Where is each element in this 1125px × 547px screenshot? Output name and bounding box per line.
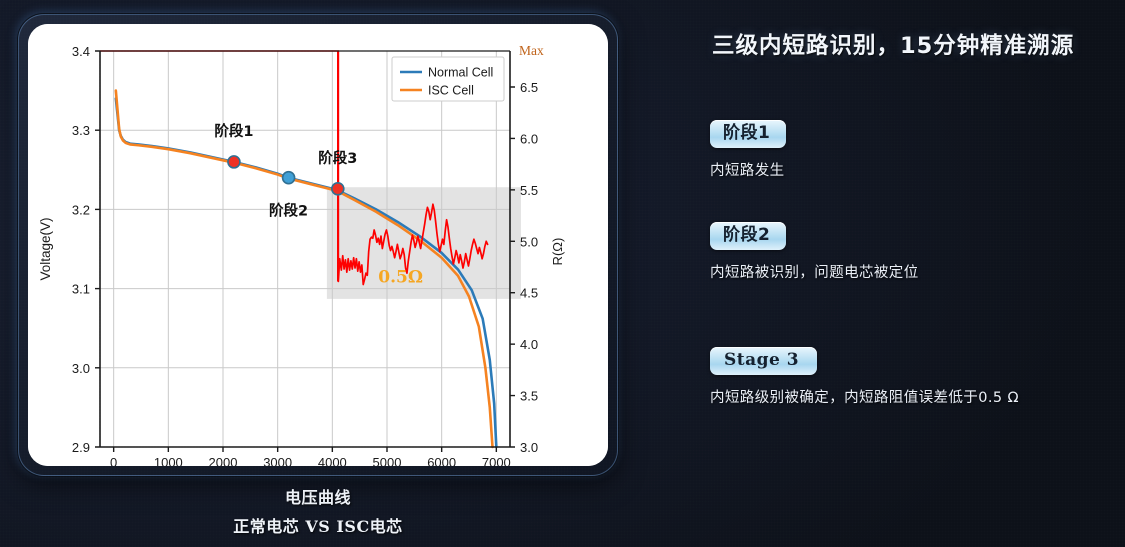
chart-card-frame: 01000200030004000500060007000Time(s)2.93… <box>18 14 618 476</box>
voltage-chart: 01000200030004000500060007000Time(s)2.93… <box>28 24 608 466</box>
svg-text:3.0: 3.0 <box>72 361 90 376</box>
max-axis-label: Max <box>519 43 544 58</box>
stage-marker-阶段1 <box>228 156 240 168</box>
svg-text:3000: 3000 <box>263 455 292 466</box>
svg-text:1000: 1000 <box>154 455 183 466</box>
svg-text:3.1: 3.1 <box>72 282 90 297</box>
svg-text:7000: 7000 <box>482 455 511 466</box>
svg-text:3.0: 3.0 <box>520 440 538 455</box>
svg-text:5.5: 5.5 <box>520 183 538 198</box>
svg-text:6.5: 6.5 <box>520 80 538 95</box>
svg-text:R(Ω): R(Ω) <box>550 238 565 266</box>
chart-legend: Normal CellISC Cell <box>392 57 504 101</box>
svg-text:4000: 4000 <box>318 455 347 466</box>
stage-marker-阶段3 <box>332 183 344 195</box>
svg-text:3.4: 3.4 <box>72 44 90 59</box>
stage-desc-2: 内短路被识别，问题电芯被定位 <box>710 261 919 282</box>
svg-text:3.5: 3.5 <box>520 389 538 404</box>
stage-badge-2: 阶段2 <box>710 222 786 250</box>
chart-caption: 电压曲线 正常电芯 VS ISC电芯 <box>18 484 618 537</box>
svg-text:Voltage(V): Voltage(V) <box>38 217 53 280</box>
legend-entry-isc-cell: ISC Cell <box>428 84 474 98</box>
stage-block-3: Stage 3 内短路级别被确定，内短路阻值误差低于0.5 Ω <box>710 347 1019 407</box>
caption-line-2: 正常电芯 VS ISC电芯 <box>18 513 618 537</box>
stage-badge-3: Stage 3 <box>710 347 817 375</box>
page-title: 三级内短路识别，15分钟精准溯源 <box>712 28 1074 60</box>
svg-text:6.0: 6.0 <box>520 131 538 146</box>
stage-label-阶段1: 阶段1 <box>214 122 253 140</box>
slide-root: 01000200030004000500060007000Time(s)2.93… <box>0 0 1125 547</box>
svg-text:4.5: 4.5 <box>520 286 538 301</box>
svg-text:4.0: 4.0 <box>520 337 538 352</box>
stage-label-阶段3: 阶段3 <box>318 149 357 167</box>
stage-label-阶段2: 阶段2 <box>269 202 308 220</box>
svg-text:5.0: 5.0 <box>520 234 538 249</box>
stage-block-2: 阶段2 内短路被识别，问题电芯被定位 <box>710 222 919 282</box>
info-panel: 三级内短路识别，15分钟精准溯源 阶段1 内短路发生 阶段2 内短路被识别，问题… <box>700 0 1125 547</box>
svg-text:3.3: 3.3 <box>72 123 90 138</box>
svg-text:6000: 6000 <box>427 455 456 466</box>
resistance-value-label: 0.5Ω <box>378 267 423 287</box>
svg-text:5000: 5000 <box>373 455 402 466</box>
stage-badge-1: 阶段1 <box>710 120 786 148</box>
svg-text:3.2: 3.2 <box>72 202 90 217</box>
stage-desc-3: 内短路级别被确定，内短路阻值误差低于0.5 Ω <box>710 386 1019 407</box>
legend-entry-normal-cell: Normal Cell <box>428 66 493 80</box>
stage-desc-1: 内短路发生 <box>710 159 786 180</box>
svg-text:0: 0 <box>110 455 117 466</box>
stage-block-1: 阶段1 内短路发生 <box>710 120 786 180</box>
chart-card: 01000200030004000500060007000Time(s)2.93… <box>28 24 608 466</box>
svg-text:2000: 2000 <box>209 455 238 466</box>
stage-marker-阶段2 <box>283 172 295 184</box>
caption-line-1: 电压曲线 <box>18 484 618 508</box>
svg-text:2.9: 2.9 <box>72 440 90 455</box>
